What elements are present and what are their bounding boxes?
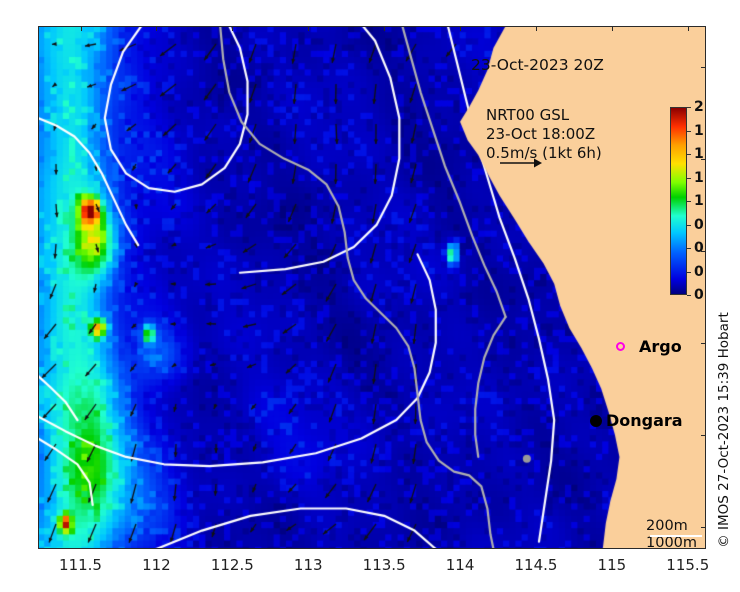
colorbar-tick-label: 1.5 (694, 146, 706, 162)
y-axis-tick (701, 527, 706, 528)
x-axis-label: 115.5 (666, 556, 709, 574)
dongara-marker-icon (590, 415, 602, 427)
colorbar-tick (687, 154, 691, 155)
bathymetry-legend: 200m 1000m (646, 518, 706, 549)
land-coastline-layer (38, 26, 706, 549)
colorbar-tick (687, 201, 691, 202)
y-axis-tick (701, 435, 706, 436)
x-axis-label: 114.5 (514, 556, 557, 574)
colorbar-tick (687, 225, 691, 226)
colorbar-tick-label: 1.75 (694, 123, 706, 139)
argo-legend-entry: Argo (616, 337, 682, 356)
x-axis-tick (232, 26, 233, 31)
depth-200-line (650, 535, 702, 537)
x-axis-tick (536, 26, 537, 31)
gsl-time-label: 23-Oct 18:00Z (486, 125, 602, 144)
map-plot-area[interactable]: 23-Oct-2023 20Z NRT00 GSL 23-Oct 18:00Z … (38, 26, 706, 549)
colorbar-tick (687, 131, 691, 132)
colorbar-tick-label: 0 (694, 287, 704, 303)
x-axis-label: 114 (446, 556, 475, 574)
gsl-annotation-block: NRT00 GSL 23-Oct 18:00Z 0.5m/s (1kt 6h) (486, 106, 602, 163)
x-axis-tick (156, 26, 157, 31)
colorbar-tick (687, 178, 691, 179)
x-axis-label: 112.5 (211, 556, 254, 574)
colorbar-tick (687, 295, 691, 296)
colorbar-tick-label: 0.5 (694, 240, 706, 256)
colorbar-tick (687, 272, 691, 273)
x-axis-label: 113 (294, 556, 323, 574)
colorbar-tick (687, 248, 691, 249)
argo-legend-label: Argo (639, 337, 682, 356)
colorbar-tick-label: 0.75 (694, 217, 706, 233)
x-axis-tick (384, 26, 385, 31)
figure-canvas: 23-Oct-2023 20Z NRT00 GSL 23-Oct 18:00Z … (0, 0, 740, 592)
x-axis-label: 111.5 (59, 556, 102, 574)
argo-marker-icon (616, 342, 625, 351)
y-axis-tick (701, 67, 706, 68)
x-axis-tick (688, 26, 689, 31)
colorbar-tick-label: 2 (694, 99, 704, 115)
date-stamp: 23-Oct-2023 20Z (471, 56, 604, 74)
copyright-credit: © IMOS 27-Oct-2023 15:39 Hobart (716, 312, 732, 548)
depth-200-label: 200m (646, 518, 706, 535)
x-axis-label: 113.5 (363, 556, 406, 574)
colorbar-gradient (670, 107, 687, 295)
colorbar-tick-label: 1.25 (694, 170, 706, 186)
x-axis-tick (612, 26, 613, 31)
y-axis-tick (701, 343, 706, 344)
x-axis-label: 112 (142, 556, 171, 574)
dongara-label: Dongara (606, 411, 683, 430)
x-axis-tick (308, 26, 309, 31)
colorbar-tick-label: 1 (694, 193, 704, 209)
gsl-product-label: NRT00 GSL (486, 106, 602, 125)
colorbar-tick (687, 107, 691, 108)
dongara-location-marker: Dongara (590, 411, 683, 430)
x-axis-label: 115 (598, 556, 627, 574)
right-arrow-icon (498, 156, 544, 170)
x-axis-tick (460, 26, 461, 31)
depth-1000-label: 1000m (646, 535, 706, 549)
x-axis-tick (81, 26, 82, 31)
colorbar-tick-label: 0.25 (694, 264, 706, 280)
